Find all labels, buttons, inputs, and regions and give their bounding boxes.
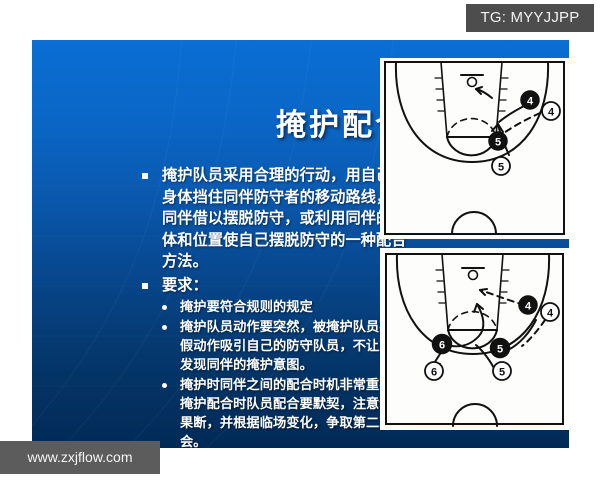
svg-text:5: 5: [497, 344, 503, 356]
player-marker-4-outline: 4: [542, 102, 560, 120]
site-watermark: www.zxjflow.com: [0, 441, 160, 474]
player-marker-5-filled: 5: [489, 132, 507, 150]
sub-bullet-item: 掩护队员动作要突然，被掩护队员要用假动作吸引自己的防守队员，不让对方发现同伴的掩…: [140, 318, 412, 375]
square-bullet-icon: [142, 173, 148, 179]
player-marker-4-filled: 4: [519, 296, 537, 314]
player-marker-5-outline: 5: [493, 362, 511, 380]
basketball-court-diagram-top: 4 4 5 5: [380, 58, 569, 239]
svg-text:4: 4: [525, 301, 532, 313]
presentation-slide: 掩护配合 掩护队员采用合理的行动，用自己的身体挡住同伴防守者的移动路线，使同伴借…: [32, 40, 569, 448]
sub-bullet-list: 掩护要符合规则的规定 掩护队员动作要突然，被掩护队员要用假动作吸引自己的防守队员…: [140, 298, 412, 448]
bullet-text: 掩护队员采用合理的行动，用自己的身体挡住同伴防守者的移动路线，使同伴借以摆脱防守…: [162, 166, 407, 270]
player-marker-4-outline: 4: [541, 303, 559, 321]
basketball-court-diagram-bottom: 4 4 5 5 6 6: [380, 248, 569, 430]
player-marker-5-filled: 5: [491, 339, 510, 358]
sub-bullet-text: 掩护队员动作要突然，被掩护队员要用假动作吸引自己的防守队员，不让对方发现同伴的掩…: [180, 320, 406, 373]
svg-text:5: 5: [498, 162, 504, 174]
sub-bullet-item: 掩护时同伴之间的配合时机非常重要，掩护配合时队员配合要默契，注意动作果断，并根据…: [140, 376, 412, 448]
dot-bullet-icon: [162, 305, 167, 310]
svg-text:6: 6: [439, 340, 445, 352]
sub-bullet-text: 掩护时同伴之间的配合时机非常重要，掩护配合时队员配合要默契，注意动作果断，并根据…: [180, 378, 406, 448]
sub-bullet-item: 掩护要符合规则的规定: [140, 298, 412, 317]
svg-text:5: 5: [495, 137, 501, 149]
sub-bullet-text: 掩护要符合规则的规定: [180, 300, 313, 315]
player-marker-4-filled: 4: [521, 91, 539, 109]
tg-watermark-badge: TG: MYYJJPP: [466, 4, 594, 32]
bullet-text: 要求：: [162, 276, 208, 294]
dot-bullet-icon: [162, 325, 167, 330]
bullet-item-requirements: 要求：: [140, 275, 412, 297]
square-bullet-icon: [142, 283, 148, 289]
dot-bullet-icon: [162, 383, 167, 388]
svg-text:4: 4: [548, 107, 555, 119]
svg-text:6: 6: [431, 367, 437, 379]
player-marker-5-outline: 5: [492, 157, 510, 175]
svg-text:5: 5: [499, 367, 505, 379]
slide-title: 掩护配合: [68, 100, 408, 144]
bullet-item-definition: 掩护队员采用合理的行动，用自己的身体挡住同伴防守者的移动路线，使同伴借以摆脱防守…: [140, 165, 412, 273]
player-marker-6-outline: 6: [425, 362, 443, 380]
svg-text:4: 4: [527, 96, 534, 108]
player-marker-6-filled: 6: [433, 335, 452, 354]
svg-text:4: 4: [547, 308, 554, 320]
slide-body-content: 掩护队员采用合理的行动，用自己的身体挡住同伴防守者的移动路线，使同伴借以摆脱防守…: [140, 165, 412, 448]
